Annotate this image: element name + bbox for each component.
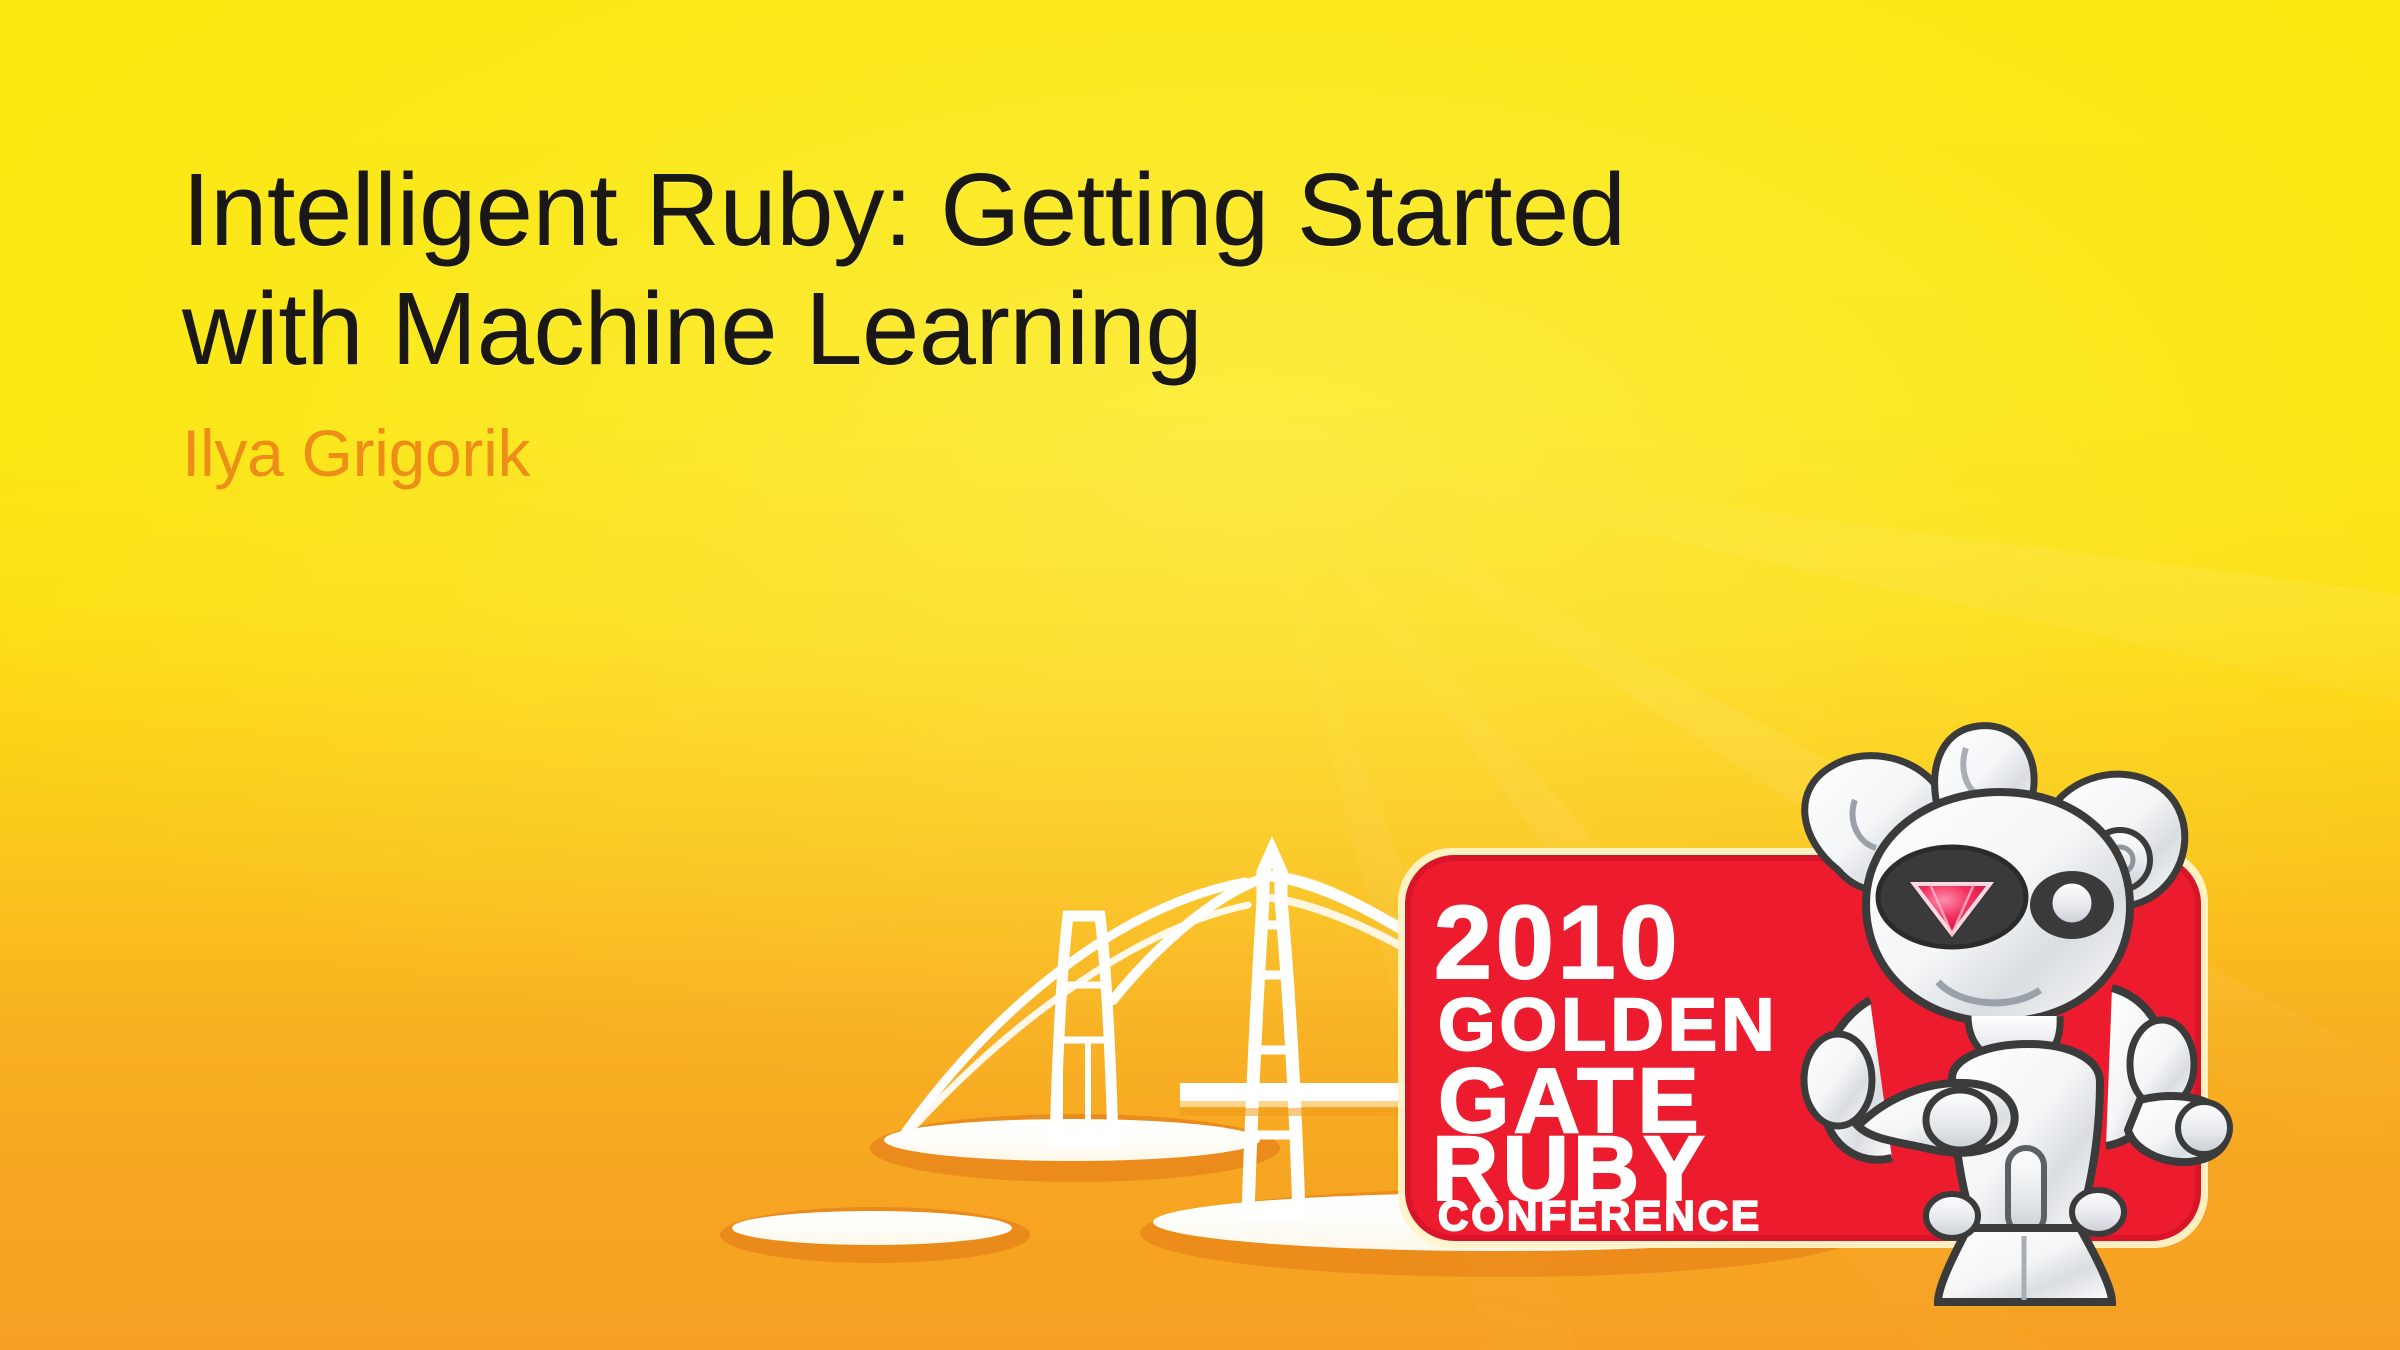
badge-line-2010: 2010 [1434, 885, 1681, 1001]
bridge-deck [1180, 1083, 1900, 1107]
slide-canvas: Intelligent Ruby: Getting Started with M… [0, 0, 2400, 1350]
speaker-name: Ilya Grigorik [182, 417, 1882, 490]
badge-line-conference: CONFERENCE [1438, 1192, 1762, 1239]
badge-text-group: 2010 GOLDEN GATE RUBY CONFERENCE [1432, 885, 1779, 1239]
badge-line-ruby: RUBY [1432, 1118, 1709, 1220]
bridge-tower-main [1248, 852, 1299, 1215]
ggrc-robot-mascot [1804, 726, 2230, 1302]
golden-gate-bridge-outline [720, 852, 1900, 1277]
island-small-left [720, 1207, 1030, 1263]
title-block: Intelligent Ruby: Getting Started with M… [182, 150, 1882, 490]
conference-logo-badge [1398, 848, 2208, 1248]
badge-line-golden: GOLDEN [1438, 983, 1779, 1066]
island-mid-center [870, 1114, 1280, 1182]
ruby-gem-icon [1914, 884, 1990, 934]
island-large-right [1140, 1189, 1860, 1277]
bridge-tower-small [1055, 916, 1113, 1142]
badge-line-gate: GATE [1438, 1050, 1703, 1152]
page-title: Intelligent Ruby: Getting Started with M… [182, 150, 1882, 389]
